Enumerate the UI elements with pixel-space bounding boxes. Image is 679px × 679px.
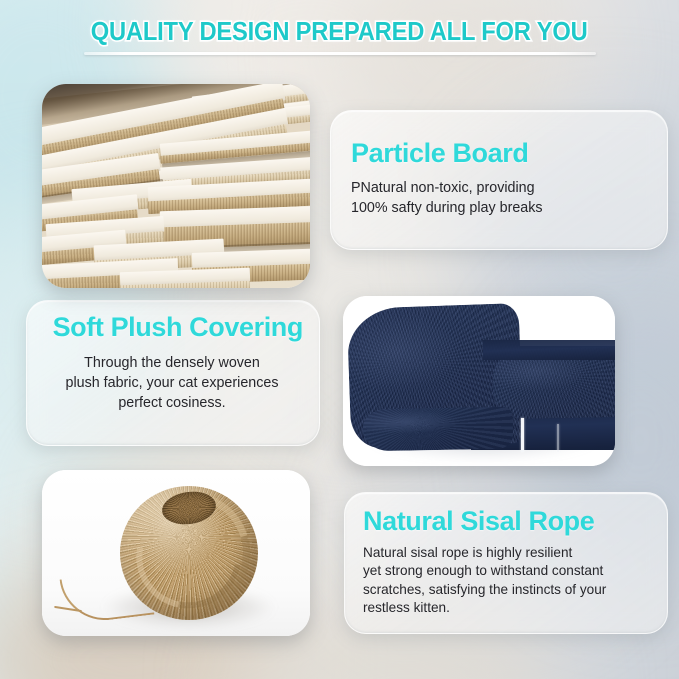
- feature-card-particle-board: Particle Board PNatural non-toxic, provi…: [330, 110, 668, 250]
- feature-body-particle-board: PNatural non-toxic, providing 100% safty…: [351, 178, 645, 219]
- feature-title-natural-sisal-rope: Natural Sisal Rope: [363, 507, 653, 537]
- page-title: QUALITY DESIGN PREPARED ALL FOR YOU: [91, 18, 588, 47]
- title-underline: [84, 52, 596, 55]
- feature-title-soft-plush-covering: Soft Plush Covering: [41, 313, 303, 343]
- feature-card-natural-sisal-rope: Natural Sisal Rope Natural sisal rope is…: [344, 492, 668, 634]
- feature-title-particle-board: Particle Board: [351, 139, 645, 169]
- sisal-rope-photo: [42, 470, 310, 636]
- feature-body-natural-sisal-rope: Natural sisal rope is highly resilient y…: [363, 544, 653, 618]
- header: QUALITY DESIGN PREPARED ALL FOR YOU: [0, 18, 679, 55]
- feature-body-soft-plush-covering: Through the densely woven plush fabric, …: [41, 353, 303, 414]
- plush-fabric-photo: [343, 296, 615, 466]
- feature-card-soft-plush-covering: Soft Plush Covering Through the densely …: [26, 300, 320, 446]
- infographic-canvas: QUALITY DESIGN PREPARED ALL FOR YOU: [0, 0, 679, 679]
- particle-board-photo: [42, 84, 310, 288]
